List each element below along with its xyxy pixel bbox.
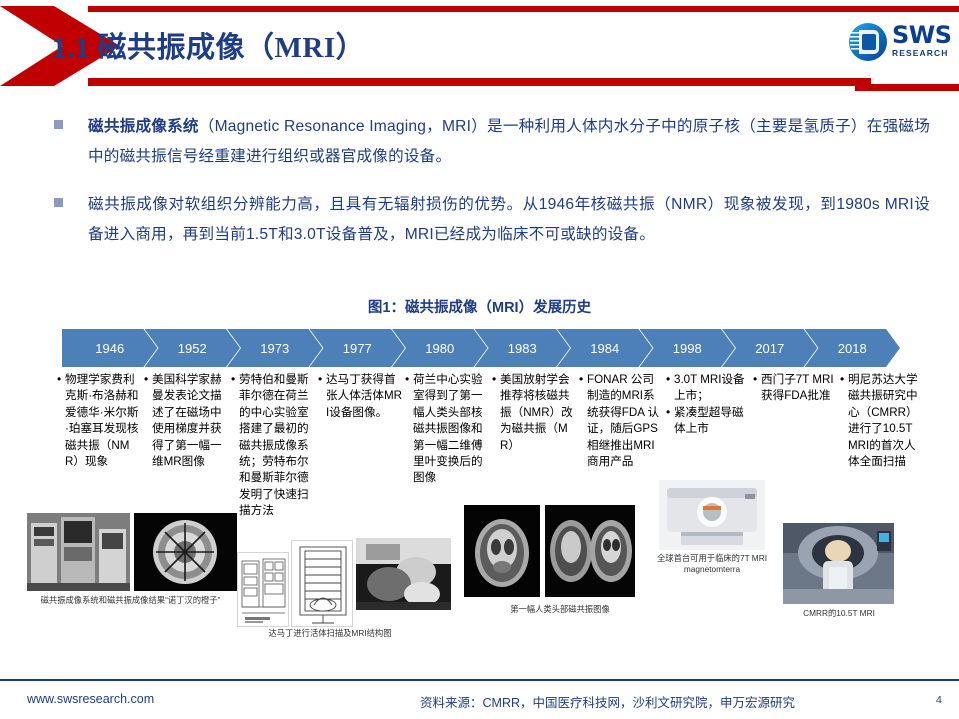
column-item: 西门子7T MRI获得FDA批准 <box>754 372 838 405</box>
sws-logo-name: SWS <box>892 23 952 47</box>
photo-nottingham-orange-result <box>134 513 237 591</box>
photo-2d-fourier-mri <box>545 505 635 597</box>
column-item: 荷兰中心实验室得到了第一幅人类头部核磁共振图像和第一幅二维傅里叶变换后的图像 <box>406 372 490 487</box>
column-item: 达马丁获得首张人体活体MRI设备图像。 <box>319 372 403 421</box>
bullet-bold-lead: 磁共振成像系统 <box>88 118 199 135</box>
photo-mri-system-equipment <box>27 513 130 591</box>
slide-header: 1.1 磁共振成像（MRI） <box>0 0 959 90</box>
footer-website-url[interactable]: www.swsresearch.com <box>27 692 154 706</box>
column-item: 劳特伯和曼斯菲尔德在荷兰的中心实验室搭建了最初的磁共振成像系统；劳特布尔和曼斯菲… <box>232 372 316 520</box>
slide: 1.1 磁共振成像（MRI） <box>0 0 959 719</box>
sws-logo-wordmark: SWS RESEARCH <box>892 23 952 58</box>
column-item: 美国科学家赫曼发表论文描述了在磁场中使用梯度并获得了第一幅一维MR图像 <box>145 372 229 470</box>
figure-title: 图1：磁共振成像（MRI）发展历史 <box>0 296 959 317</box>
footer-page-number: 4 <box>936 694 942 706</box>
bullet-marker-icon <box>54 120 63 129</box>
timeline-chevrons: 1946 1952 1973 1977 1980 1983 1984 1998 … <box>62 329 900 367</box>
column-item: FONAR 公司制造的MRI系统获得FDA 认证，随后GPS相继推出MRI商用产… <box>580 372 664 470</box>
caption-damadian: 达马丁进行活体扫描及MRI结构图 <box>230 628 430 639</box>
photo-first-human-head-mri <box>464 505 540 597</box>
bullet-item: 磁共振成像对软组织分辨能力高，且具有无辐射损伤的优势。从1946年核磁共振（NM… <box>54 190 930 250</box>
caption-nottingham-orange: 磁共振成像系统和磁共振成像结果“诺丁汉的橙子” <box>18 595 243 606</box>
caption-cmrr-105t: CMRR的10.5T MRI <box>780 608 898 619</box>
photo-magnet-structure-diagram <box>291 540 353 627</box>
column-item: 美国放射学会推荐将核磁共振（NMR）改为磁共振（MR） <box>493 372 577 454</box>
bullet-item: 磁共振成像系统（Magnetic Resonance Imaging，MRI）是… <box>54 112 930 172</box>
timeline-year-1952[interactable]: 1952 <box>145 329 241 367</box>
bullet-marker-icon <box>54 198 63 207</box>
photo-cmrr-105t-mri <box>783 523 894 604</box>
sws-logo-icon <box>848 22 888 62</box>
photo-7t-magnetom-terra-scanner <box>659 480 765 550</box>
timeline-year-1980[interactable]: 1980 <box>392 329 488 367</box>
timeline-year-2018[interactable]: 2018 <box>805 329 901 367</box>
header-bottom-bar-right <box>855 84 959 91</box>
timeline-year-1998[interactable]: 1998 <box>640 329 736 367</box>
photo-damadian-body-scan <box>356 538 451 610</box>
caption-first-head-image: 第一幅人类头部磁共振图像 <box>470 604 650 615</box>
timeline-year-1984[interactable]: 1984 <box>557 329 653 367</box>
footer-source-note: 资料来源：CMRR，中国医疗科技网，沙利文研究院，申万宏源研究 <box>420 692 795 711</box>
bullet-text: 磁共振成像系统（Magnetic Resonance Imaging，MRI）是… <box>88 112 930 172</box>
body-bullets: 磁共振成像系统（Magnetic Resonance Imaging，MRI）是… <box>54 112 930 268</box>
page-title: 1.1 磁共振成像（MRI） <box>52 24 365 66</box>
timeline-year-1983[interactable]: 1983 <box>475 329 571 367</box>
timeline-year-1973[interactable]: 1973 <box>227 329 323 367</box>
header-top-bar <box>88 6 959 12</box>
timeline-year-2017[interactable]: 2017 <box>722 329 818 367</box>
header-bottom-bar <box>88 78 871 86</box>
column-item: 3.0T MRI设备上市； <box>667 372 751 405</box>
bullet-text: 磁共振成像对软组织分辨能力高，且具有无辐射损伤的优势。从1946年核磁共振（NM… <box>88 190 930 250</box>
bullet-rest: 磁共振成像对软组织分辨能力高，且具有无辐射损伤的优势。从1946年核磁共振（NM… <box>88 196 930 243</box>
footer-divider <box>0 679 959 681</box>
photo-scanner-line-drawing <box>237 552 289 627</box>
caption-7t-magnetom: 全球首台可用于临床的7T MRI magnetomterra <box>649 553 775 575</box>
timeline-year-1946[interactable]: 1946 <box>62 329 158 367</box>
column-item: 物理学家费利克斯·布洛赫和爱德华·米尔斯·珀塞耳发现核磁共振（NMR）现象 <box>58 372 142 470</box>
column-item: 明尼苏达大学磁共振研究中心（CMRR）进行了10.5T MRI的首次人体全面扫描 <box>841 372 925 470</box>
timeline-year-1977[interactable]: 1977 <box>310 329 406 367</box>
timeline-column-1952: 美国科学家赫曼发表论文描述了在磁场中使用梯度并获得了第一幅一维MR图像 <box>145 372 229 632</box>
sws-logo: SWS RESEARCH <box>848 20 948 66</box>
sws-logo-sub: RESEARCH <box>892 48 952 58</box>
bullet-rest: （Magnetic Resonance Imaging，MRI）是一种利用人体内… <box>88 118 930 165</box>
timeline-column-1946: 物理学家费利克斯·布洛赫和爱德华·米尔斯·珀塞耳发现核磁共振（NMR）现象 <box>58 372 142 632</box>
column-item: 紧凑型超导磁体上市 <box>667 405 751 438</box>
